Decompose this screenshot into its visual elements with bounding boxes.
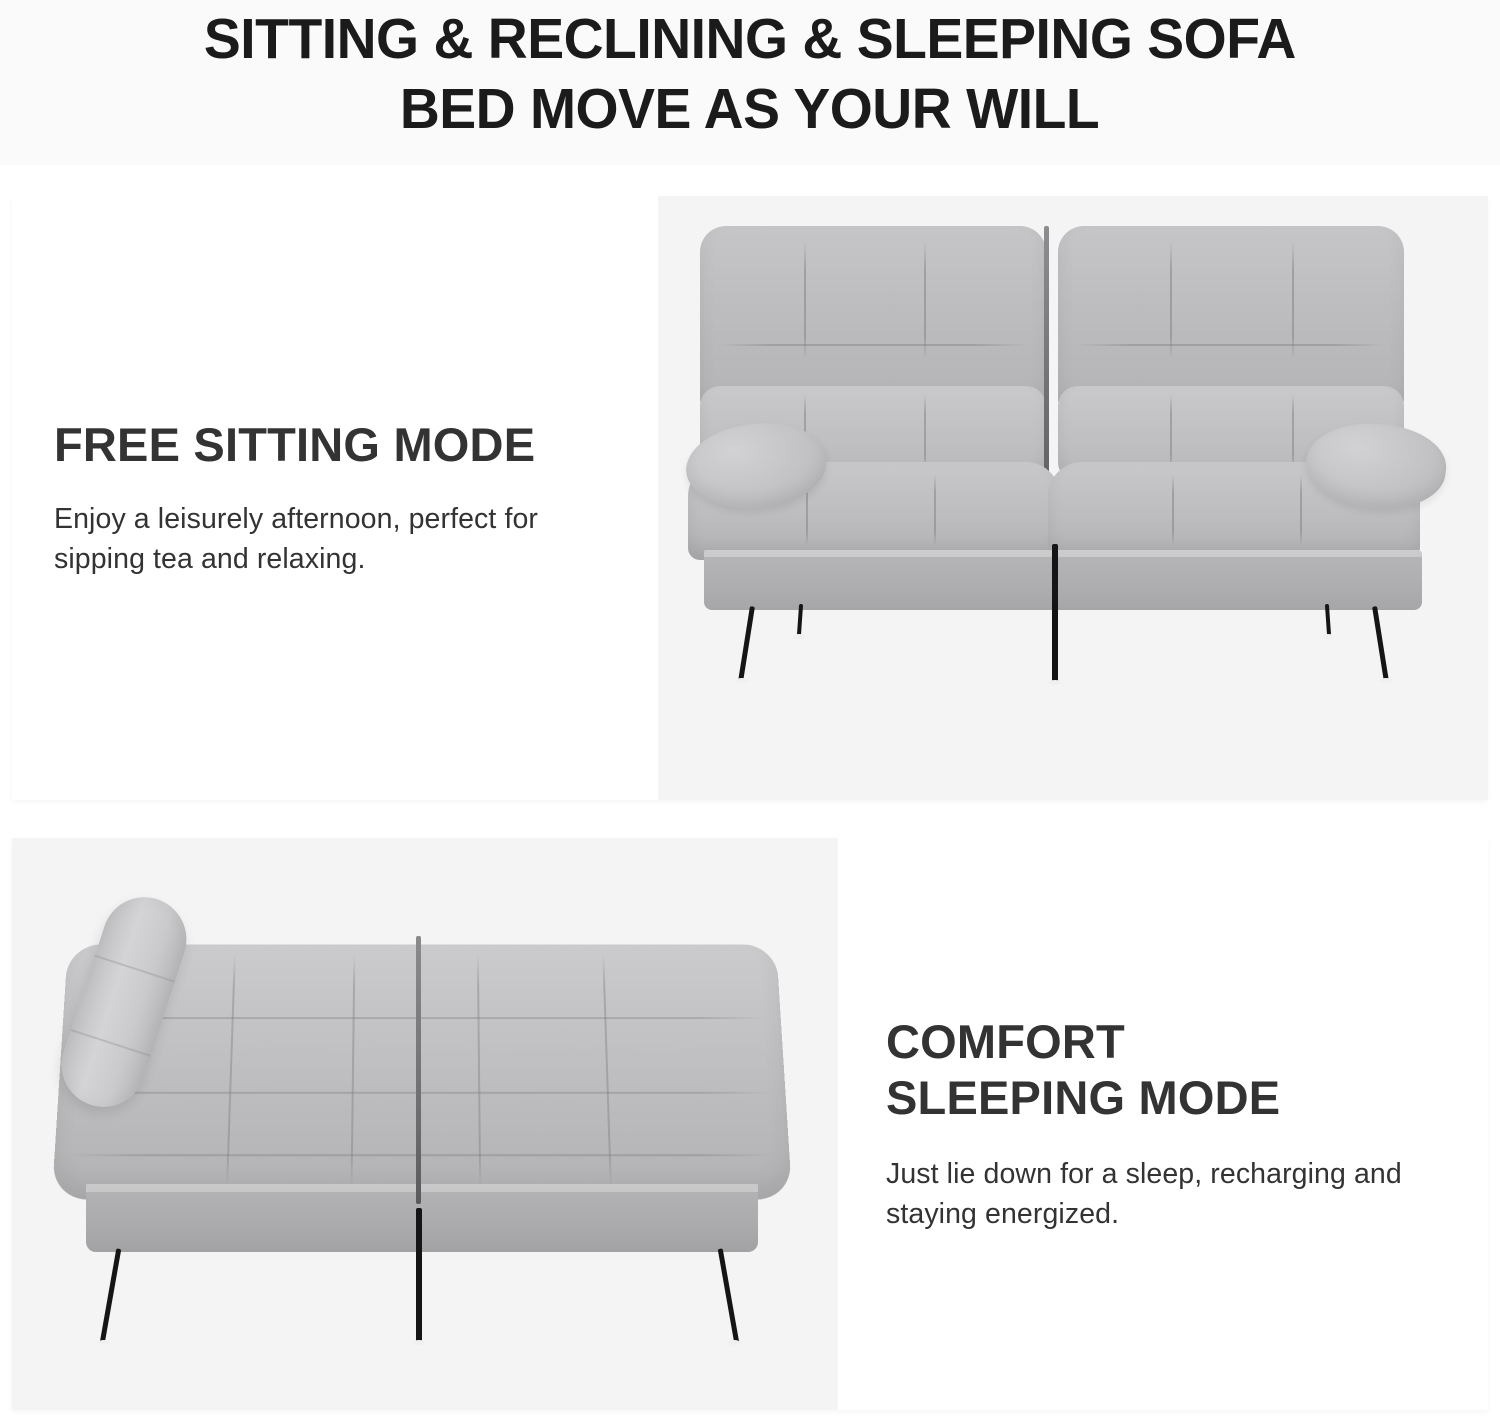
feature-text-card-sitting: FREE SITTING MODE Enjoy a leisurely afte… xyxy=(12,196,658,800)
feature-heading-sleeping-line-1: COMFORT xyxy=(886,1014,1448,1070)
sofa-leg-center xyxy=(1052,544,1058,684)
sofa-leg-front-right xyxy=(1372,606,1389,682)
bed-leg-tip-front-right xyxy=(728,1340,740,1345)
bed-leg-tip-front-left xyxy=(98,1340,110,1345)
title-line-1: SITTING & RECLINING & SLEEPING SOFA xyxy=(204,4,1296,74)
sofa-base-skirt xyxy=(704,550,1422,610)
feature-heading-sleeping-line-2: SLEEPING MODE xyxy=(886,1070,1448,1126)
bed-base-skirt xyxy=(86,1184,758,1252)
sofa-bed-illustration xyxy=(46,878,806,1348)
bed-leg-front-left xyxy=(100,1248,122,1343)
sofa-backrest-left xyxy=(700,226,1046,406)
sofa-sitting-illustration xyxy=(686,214,1446,604)
page-title: SITTING & RECLINING & SLEEPING SOFA BED … xyxy=(0,0,1500,165)
feature-heading-sitting: FREE SITTING MODE xyxy=(54,417,612,473)
feature-body-sleeping: Just lie down for a sleep, recharging an… xyxy=(886,1154,1448,1234)
sofa-leg-tip-front-left xyxy=(736,678,748,683)
bed-leg-center xyxy=(416,1208,422,1344)
sofa-leg-tip-back-right xyxy=(1322,634,1334,639)
feature-photo-sleeping-mode xyxy=(12,838,838,1410)
title-line-2: BED MOVE AS YOUR WILL xyxy=(400,74,1099,144)
feature-photo-sitting-mode xyxy=(658,196,1488,800)
sofa-leg-tip-back-left xyxy=(793,634,805,639)
sofa-leg-tip-front-right xyxy=(1380,678,1392,683)
sofa-leg-tip-center xyxy=(1049,680,1061,685)
feature-row-sitting-mode: FREE SITTING MODE Enjoy a leisurely afte… xyxy=(12,196,1488,800)
feature-row-sleeping-mode: COMFORT SLEEPING MODE Just lie down for … xyxy=(12,838,1488,1410)
sofa-backrest-right xyxy=(1058,226,1404,406)
feature-heading-sleeping: COMFORT SLEEPING MODE xyxy=(886,1014,1448,1126)
bed-leg-front-right xyxy=(718,1248,740,1343)
feature-body-sitting: Enjoy a leisurely afternoon, perfect for… xyxy=(54,499,612,579)
bed-center-split xyxy=(416,936,421,1204)
product-infographic: SITTING & RECLINING & SLEEPING SOFA BED … xyxy=(0,0,1500,1428)
bed-leg-tip-center xyxy=(413,1340,425,1345)
sofa-leg-back-left xyxy=(797,604,803,636)
feature-text-card-sleeping: COMFORT SLEEPING MODE Just lie down for … xyxy=(838,838,1488,1410)
sofa-leg-front-left xyxy=(738,606,755,682)
